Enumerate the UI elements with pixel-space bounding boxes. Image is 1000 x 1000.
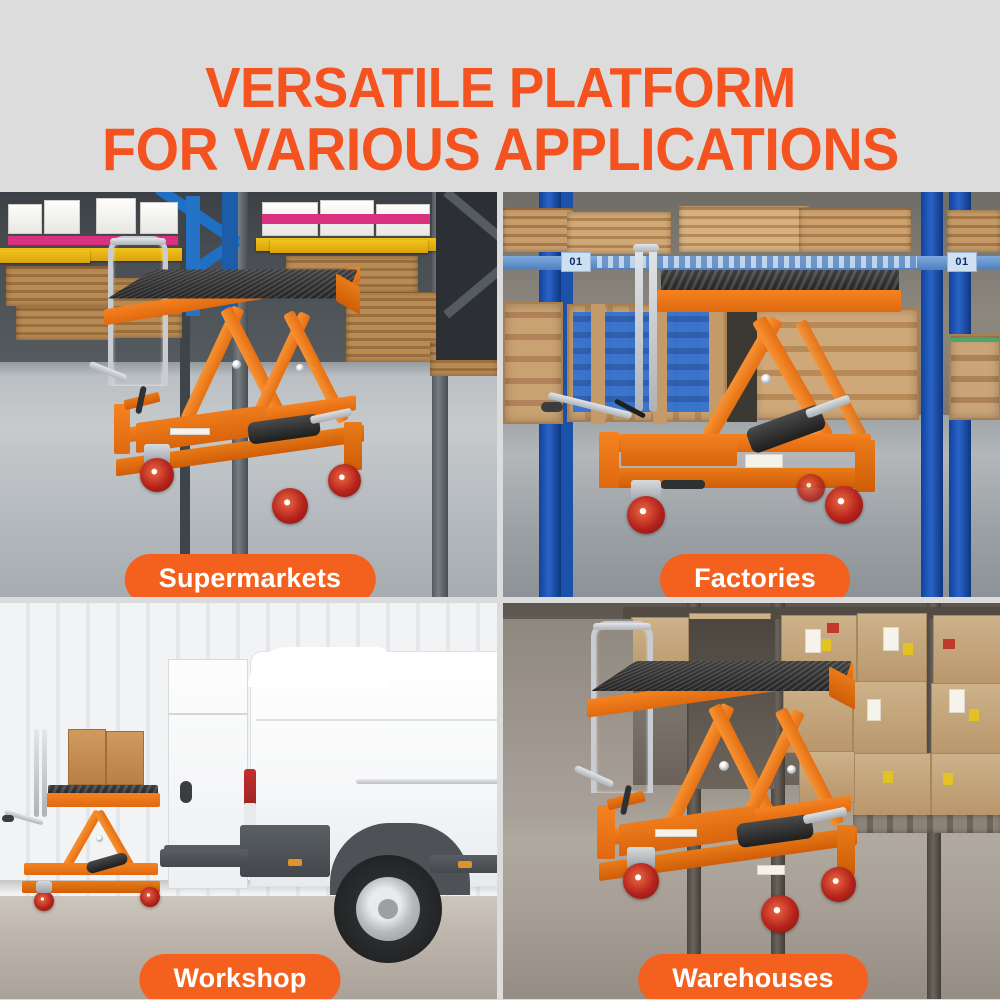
scissor-lift-cart: [2, 729, 172, 929]
handle-grip-cap: [2, 815, 14, 822]
box-tag: [943, 773, 953, 785]
headline-line-1: VERSATILE PLATFORM: [205, 57, 795, 119]
rack-upright-icon: [921, 192, 943, 597]
caster-fork: [36, 881, 52, 893]
caster-wheel: [627, 496, 665, 534]
handle-upright: [42, 729, 47, 817]
scissor-pivot-pin: [761, 374, 771, 384]
box-tag: [903, 643, 913, 655]
caster-wheel: [328, 464, 361, 497]
caster-wheel: [797, 474, 825, 502]
caster-wheel: [821, 867, 856, 902]
base-side-rail: [114, 404, 130, 454]
caster-wheel: [34, 891, 54, 911]
base-deck: [621, 440, 737, 466]
cardboard-box-stack: [931, 753, 1000, 817]
product-sticker: [757, 865, 785, 875]
foot-pedal: [661, 480, 705, 489]
base-side-rail: [597, 805, 615, 859]
headline-block: VERSATILE PLATFORM FOR VARIOUS APPLICATI…: [0, 0, 1000, 192]
platform-deck: [661, 270, 899, 292]
scene-van-loading: [0, 603, 497, 999]
platform-deck: [591, 661, 852, 691]
van-door-handle-icon: [180, 781, 192, 803]
van-door-seam: [168, 713, 248, 715]
panel-factories: 01 01: [503, 192, 1000, 597]
scissor-lift-cart: [585, 617, 895, 947]
shelf-carton: [140, 202, 178, 234]
scissor-pivot-pin: [787, 765, 796, 774]
shelf-beam: [0, 250, 90, 263]
caster-wheel: [272, 488, 308, 524]
shelf-carton: [8, 204, 42, 234]
carton-pink-stripe: [262, 214, 430, 224]
handle-grip: [110, 238, 166, 245]
van-side-rail: [356, 779, 497, 784]
application-grid: Supermarkets 01 01: [0, 192, 1000, 1000]
handle-upright: [34, 729, 39, 817]
scissor-pivot-pin: [96, 835, 103, 842]
platform-deck: [107, 270, 357, 299]
caster-wheel: [140, 887, 160, 907]
caster-wheel: [623, 863, 659, 899]
van-roof-curve: [248, 647, 388, 687]
scene-factory-storage: 01 01: [503, 192, 1000, 597]
handle-upright: [649, 244, 657, 412]
product-sticker: [655, 829, 697, 837]
reflector-icon: [458, 861, 472, 868]
badge-warehouses[interactable]: Warehouses: [638, 954, 868, 999]
van-taillight-lens: [244, 803, 256, 825]
badge-workshop[interactable]: Workshop: [139, 954, 340, 999]
scissor-pivot-pin: [296, 364, 304, 372]
van-side-skirt: [160, 849, 248, 867]
panel-workshop: Workshop: [0, 603, 497, 999]
handle-grip-cap: [541, 402, 563, 412]
crate-strap: [949, 338, 1000, 342]
platform-frame: [657, 290, 901, 312]
base-side-rail: [855, 440, 875, 492]
badge-factories[interactable]: Factories: [660, 554, 850, 597]
handle-upright: [635, 244, 643, 412]
reflector-icon: [288, 859, 302, 866]
base-side-rail: [344, 422, 362, 470]
wooden-crate: [949, 334, 1000, 420]
scissor-lift-cart: [96, 236, 396, 536]
scissor-pivot-pin: [719, 761, 729, 771]
scene-warehouse-boxes: [503, 603, 1000, 999]
shelf-carton: [44, 200, 80, 234]
van-body-seam: [256, 719, 497, 721]
base-side-rail: [599, 432, 619, 488]
caster-wheel: [761, 895, 799, 933]
wooden-pallet: [947, 210, 1000, 252]
panel-supermarkets: Supermarkets: [0, 192, 497, 597]
box-label: [949, 689, 965, 713]
scissor-lift-cart: [539, 244, 879, 544]
handle-grip: [593, 623, 651, 630]
rack-label-01: 01: [947, 252, 977, 272]
shelf-carton: [96, 198, 136, 234]
product-sticker: [745, 454, 783, 468]
caster-wheel: [825, 486, 863, 524]
cardboard-box: [106, 731, 144, 785]
red-marking: [943, 639, 955, 649]
box-tag: [969, 709, 979, 721]
caster-wheel: [140, 458, 174, 492]
scissor-pivot-pin: [232, 360, 241, 369]
platform-frame: [46, 793, 160, 807]
panel-warehouses: Warehouses: [503, 603, 1000, 999]
cardboard-box-stack: [933, 615, 1000, 687]
van-hub-center: [378, 899, 398, 919]
headline-line-2: FOR VARIOUS APPLICATIONS: [102, 119, 899, 181]
handle-grip: [633, 244, 659, 252]
cardboard-box-stack: [931, 683, 1000, 757]
badge-supermarkets[interactable]: Supermarkets: [125, 554, 376, 597]
product-sticker: [170, 428, 210, 435]
cardboard-box: [68, 729, 106, 785]
van-rear-bumper: [240, 825, 330, 877]
scene-supermarket-warehouse: [0, 192, 497, 597]
